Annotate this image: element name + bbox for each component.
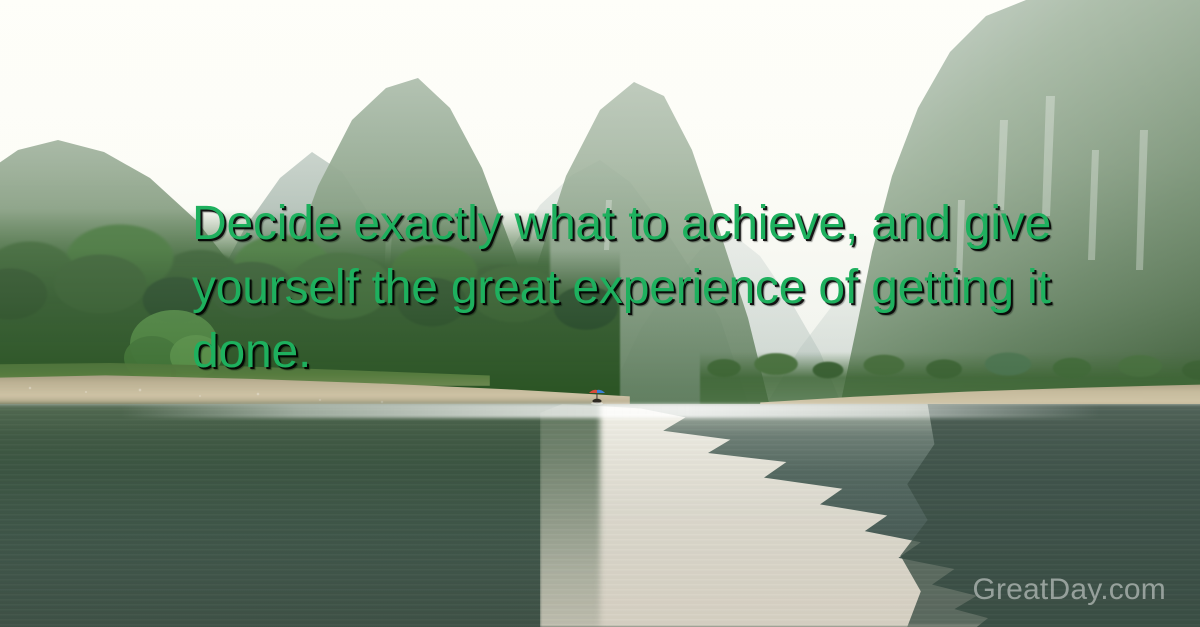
watermark-greatday: GreatDay.com	[972, 573, 1166, 607]
quote-text: Decide exactly what to achieve, and give…	[192, 192, 1052, 383]
quote-poster: Decide exactly what to achieve, and give…	[0, 0, 1200, 627]
waterline-glint	[120, 404, 1100, 418]
boat-with-umbrella-icon	[586, 386, 608, 408]
